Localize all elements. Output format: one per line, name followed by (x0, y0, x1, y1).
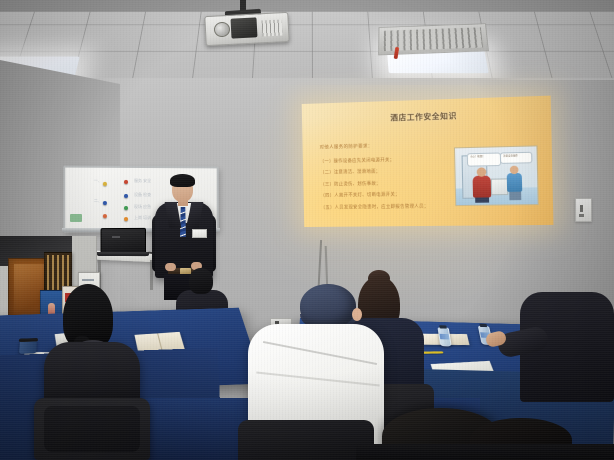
whiteboard-eraser (70, 214, 82, 222)
magnet (124, 194, 128, 198)
bubble-left-text: 小心！地滑！ (470, 156, 485, 160)
light-switch-plate[interactable] (575, 198, 592, 222)
classroom-photo: 酒店工作安全知识 对他人服务的防护要求： （一）操作设备应先关闭电源开关； （二… (0, 0, 614, 460)
slide-bullet: （五）人员发现安全隐患时，应立即报告管理人员； (321, 204, 442, 210)
magnet (124, 217, 128, 221)
paper-cup (19, 340, 37, 354)
navy-uniform-cap (300, 284, 356, 328)
chair (238, 420, 374, 460)
presenter-tie (180, 207, 186, 237)
slide-bullet-list: （一）操作设备应先关闭电源开关； （二）注意清洁、湿滑地面； （三）防止烫伤、划… (320, 157, 442, 217)
attendee-white-uniform-ear (352, 308, 362, 321)
speech-bubble-left: 小心！地滑！ (467, 152, 501, 166)
whiteboard-note: 一、 (94, 178, 102, 184)
slide-title: 酒店工作安全知识 (302, 107, 551, 126)
magnet (124, 206, 128, 210)
magnet (103, 201, 107, 205)
chair-backrest (44, 406, 140, 452)
laptop-logo (112, 236, 120, 238)
magnet (124, 180, 128, 184)
switch-lower-icon[interactable] (579, 214, 584, 217)
projector-vent-grill (262, 19, 283, 36)
presenter-hair (170, 174, 195, 187)
magnet (103, 182, 107, 186)
switch-toggle-icon[interactable] (580, 205, 583, 212)
whiteboard-note: 二、 (94, 198, 102, 204)
attendee-back-dark-head (189, 268, 213, 294)
magnet (103, 214, 107, 218)
slide-subtitle: 对他人服务的防护要求： (319, 143, 372, 150)
whiteboard-note: 设备 检查 (134, 192, 151, 198)
presenter-hand-left (165, 263, 176, 271)
slide-bullet: （一）操作设备应先关闭电源开关； (320, 157, 441, 164)
presenter-name-badge (192, 229, 207, 238)
slide-bullet: （三）防止烫伤、划伤事故； (320, 181, 441, 187)
projector-top-panel (230, 17, 257, 38)
slide-bullet: （四）人离开不关灯、切断电源开关； (321, 192, 442, 198)
cartoon-figure-blue (507, 173, 523, 192)
whiteboard-note: 上岗 培训 (134, 215, 151, 221)
slide-bullet: （二）注意清洁、湿滑地面； (320, 169, 441, 176)
speech-bubble-right: 注意安全操作 (500, 152, 533, 164)
attendee-foreground-shoulders (356, 444, 614, 460)
water-bottle (437, 327, 451, 346)
projected-slide: 酒店工作安全知识 对他人服务的防护要求： （一）操作设备应先关闭电源开关； （二… (302, 96, 554, 227)
whiteboard-note: 现场 应急 (134, 204, 151, 210)
bubble-right-text: 注意安全操作 (503, 155, 518, 159)
cartoon-appliance (491, 178, 509, 195)
whiteboard-note: 服务 安全 (134, 178, 151, 184)
safety-cartoon-image: 小心！地滑！ 注意安全操作 (454, 145, 539, 206)
cartoon-figure-red (473, 176, 492, 198)
laptop-base (97, 252, 149, 256)
